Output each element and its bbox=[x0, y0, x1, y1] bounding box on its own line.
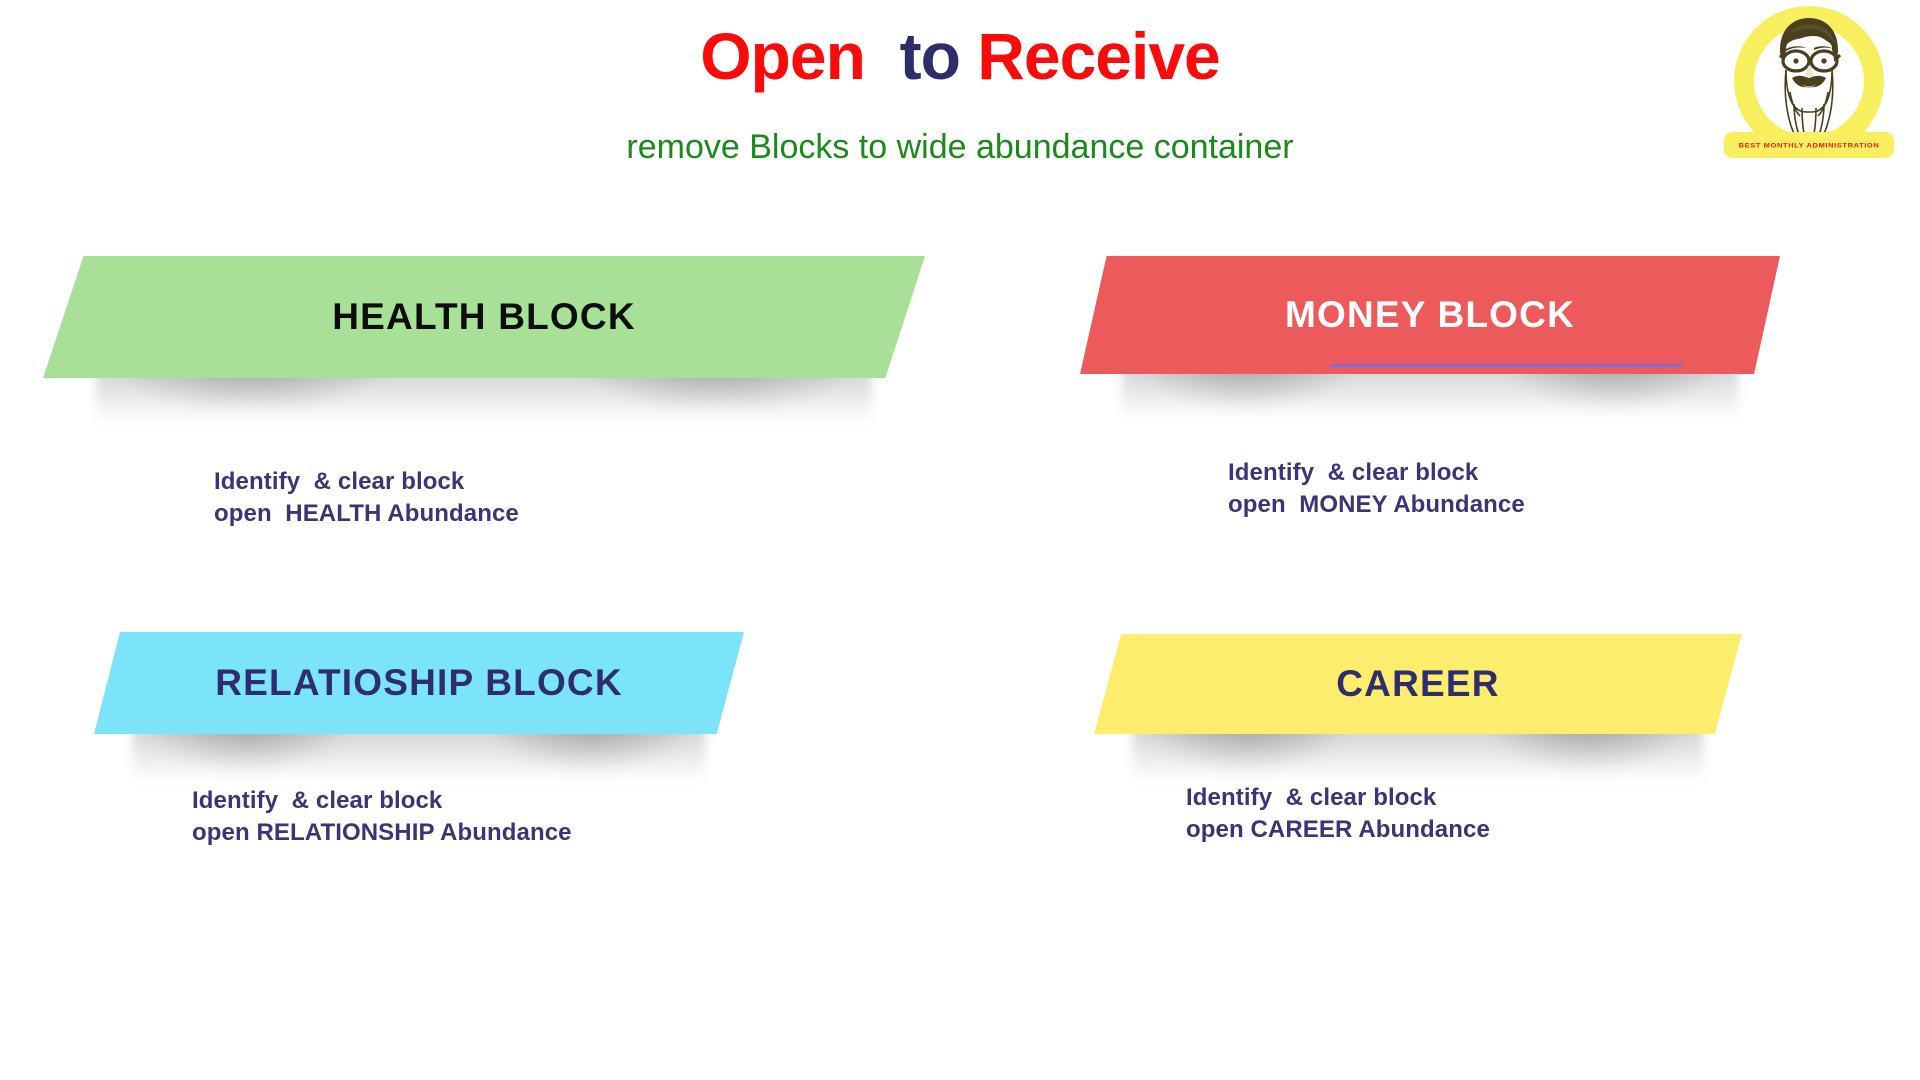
banner-money-label: MONEY BLOCK bbox=[1285, 294, 1575, 336]
banner-relationship-label: RELATIOSHIP BLOCK bbox=[215, 662, 623, 704]
page-title: Open to Receive bbox=[0, 22, 1920, 91]
health-body-text: Identify & clear blockopen HEALTH Abunda… bbox=[214, 466, 519, 529]
logo-tagline-bar: BEST MONTHLY ADMINISTRATION bbox=[1724, 132, 1894, 158]
banner-career[interactable]: CAREER bbox=[1094, 634, 1742, 734]
title-space-2 bbox=[960, 19, 977, 93]
title-word-to: to bbox=[900, 19, 960, 93]
logo-tagline-text: BEST MONTHLY ADMINISTRATION bbox=[1724, 142, 1894, 150]
title-space-1 bbox=[865, 19, 900, 93]
relationship-banner-wrap: RELATIOSHIP BLOCK bbox=[94, 632, 744, 734]
banner-money-underline bbox=[1330, 364, 1682, 367]
career-banner-wrap: CAREER bbox=[1094, 634, 1742, 734]
money-body-text: Identify & clear blockopen MONEY Abundan… bbox=[1228, 457, 1525, 520]
career-line-1: Identify & clear block bbox=[1186, 784, 1436, 811]
banner-relationship[interactable]: RELATIOSHIP BLOCK bbox=[94, 632, 744, 734]
banner-career-label: CAREER bbox=[1336, 663, 1499, 705]
page-subtitle: remove Blocks to wide abundance containe… bbox=[0, 128, 1920, 167]
career-line-2: open CAREER Abundance bbox=[1186, 816, 1490, 843]
banner-money[interactable]: MONEY BLOCK bbox=[1080, 256, 1780, 374]
banner-health-label: HEALTH BLOCK bbox=[332, 296, 636, 338]
title-word-receive: Receive bbox=[977, 19, 1220, 93]
money-banner-wrap: MONEY BLOCK bbox=[1080, 256, 1780, 374]
banner-health[interactable]: HEALTH BLOCK bbox=[43, 256, 925, 378]
slide-canvas: Open to Receive remove Blocks to wide ab… bbox=[0, 0, 1920, 1080]
career-body-text: Identify & clear blockopen CAREER Abunda… bbox=[1186, 782, 1490, 845]
health-line-1: Identify & clear block bbox=[214, 468, 464, 495]
relationship-line-1: Identify & clear block bbox=[192, 787, 442, 814]
money-line-2: open MONEY Abundance bbox=[1228, 491, 1525, 518]
title-word-open: Open bbox=[700, 19, 865, 93]
brand-logo[interactable]: BEST MONTHLY ADMINISTRATION bbox=[1712, 4, 1902, 184]
health-banner-wrap: HEALTH BLOCK bbox=[43, 256, 925, 378]
health-line-2: open HEALTH Abundance bbox=[214, 500, 519, 527]
money-line-1: Identify & clear block bbox=[1228, 459, 1478, 486]
relationship-line-2: open RELATIONSHIP Abundance bbox=[192, 819, 572, 846]
relationship-body-text: Identify & clear blockopen RELATIONSHIP … bbox=[192, 785, 572, 848]
